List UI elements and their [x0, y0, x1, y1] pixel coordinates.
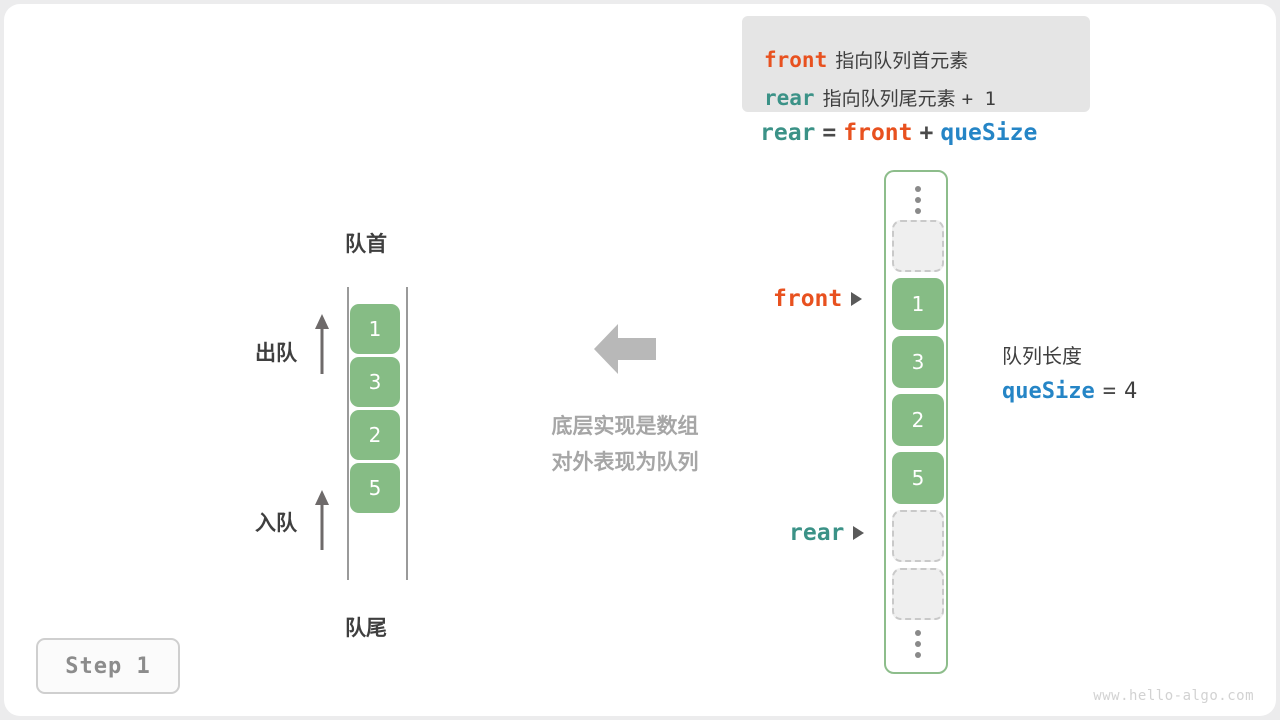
- array-slot-1[interactable]: 1: [892, 278, 944, 330]
- quesize-equals: =: [1103, 379, 1116, 404]
- array-bottom-ellipsis-icon: [886, 630, 950, 658]
- watermark: www.hello-algo.com: [1093, 688, 1254, 704]
- pointer-front-label: front: [773, 286, 842, 312]
- enqueue-arrow-icon: [313, 488, 331, 550]
- legend-line-front: front指向队列首元素: [764, 50, 968, 71]
- legend-suffix-rear: + 1: [962, 88, 996, 110]
- quesize-expression: queSize=4: [1002, 379, 1137, 404]
- enqueue-label: 入队: [255, 507, 297, 537]
- formula-rhs-front: front: [843, 120, 912, 146]
- diagram-canvas: front指向队列首元素 rear指向队列尾元素+ 1 rear=front+q…: [0, 0, 1280, 720]
- center-caption-line2: 对外表现为队列: [530, 444, 720, 480]
- array-slot-3[interactable]: 2: [892, 394, 944, 446]
- legend-desc-front: 指向队列首元素: [835, 50, 968, 72]
- legend-line-rear: rear指向队列尾元素+ 1: [764, 88, 996, 109]
- center-caption-line1: 底层实现是数组: [530, 408, 720, 444]
- array-slot-2-value: 3: [912, 350, 925, 374]
- quesize-cn-label: 队列长度: [1002, 340, 1137, 369]
- queue-cell-3[interactable]: 5: [350, 463, 400, 513]
- quesize-annotation: 队列长度 queSize=4: [1002, 340, 1137, 405]
- array-slot-3-value: 2: [912, 408, 925, 432]
- dequeue-arrow-icon: [313, 312, 331, 374]
- queue-cell-0-value: 1: [369, 317, 382, 341]
- step-badge: Step 1: [36, 638, 180, 694]
- queue-cell-1[interactable]: 3: [350, 357, 400, 407]
- dequeue-label: 出队: [255, 337, 297, 367]
- legend-keyword-rear: rear: [764, 86, 815, 110]
- array-slot-2[interactable]: 3: [892, 336, 944, 388]
- legend-keyword-front: front: [764, 48, 827, 72]
- quesize-name: queSize: [1002, 379, 1095, 404]
- pointer-legend-box: front指向队列首元素 rear指向队列尾元素+ 1: [742, 16, 1090, 112]
- formula-plus: +: [920, 120, 934, 146]
- queue-head-label: 队首: [345, 228, 387, 258]
- queue-cell-2[interactable]: 2: [350, 410, 400, 460]
- abstraction-arrow-icon: [592, 320, 658, 378]
- quesize-value: 4: [1124, 379, 1137, 404]
- queue-cell-2-value: 2: [369, 423, 382, 447]
- array-slot-5[interactable]: [892, 510, 944, 562]
- queue-cell-1-value: 3: [369, 370, 382, 394]
- formula-lhs: rear: [760, 120, 815, 146]
- legend-desc-rear: 指向队列尾元素: [823, 88, 956, 110]
- queue-cell-3-value: 5: [369, 476, 382, 500]
- array-top-ellipsis-icon: [886, 186, 950, 214]
- array-container: 1 3 2 5: [884, 170, 948, 674]
- queue-tail-label: 队尾: [345, 612, 387, 642]
- center-caption: 底层实现是数组 对外表现为队列: [530, 408, 720, 480]
- queue-rail-right: [406, 287, 408, 580]
- pointer-rear-arrow-icon: [853, 526, 864, 540]
- pointer-rear: rear: [789, 520, 864, 546]
- formula-equals: =: [822, 120, 836, 146]
- array-slot-1-value: 1: [912, 292, 925, 316]
- pointer-front: front: [773, 286, 862, 312]
- array-slot-0[interactable]: [892, 220, 944, 272]
- pointer-rear-label: rear: [789, 520, 844, 546]
- queue-rail-left: [347, 287, 349, 580]
- array-slot-4[interactable]: 5: [892, 452, 944, 504]
- array-slot-6[interactable]: [892, 568, 944, 620]
- formula-rhs-quesize: queSize: [940, 120, 1037, 146]
- formula-rear-equation: rear=front+queSize: [760, 119, 1037, 147]
- array-slot-4-value: 5: [912, 466, 925, 490]
- pointer-front-arrow-icon: [851, 292, 862, 306]
- queue-cell-0[interactable]: 1: [350, 304, 400, 354]
